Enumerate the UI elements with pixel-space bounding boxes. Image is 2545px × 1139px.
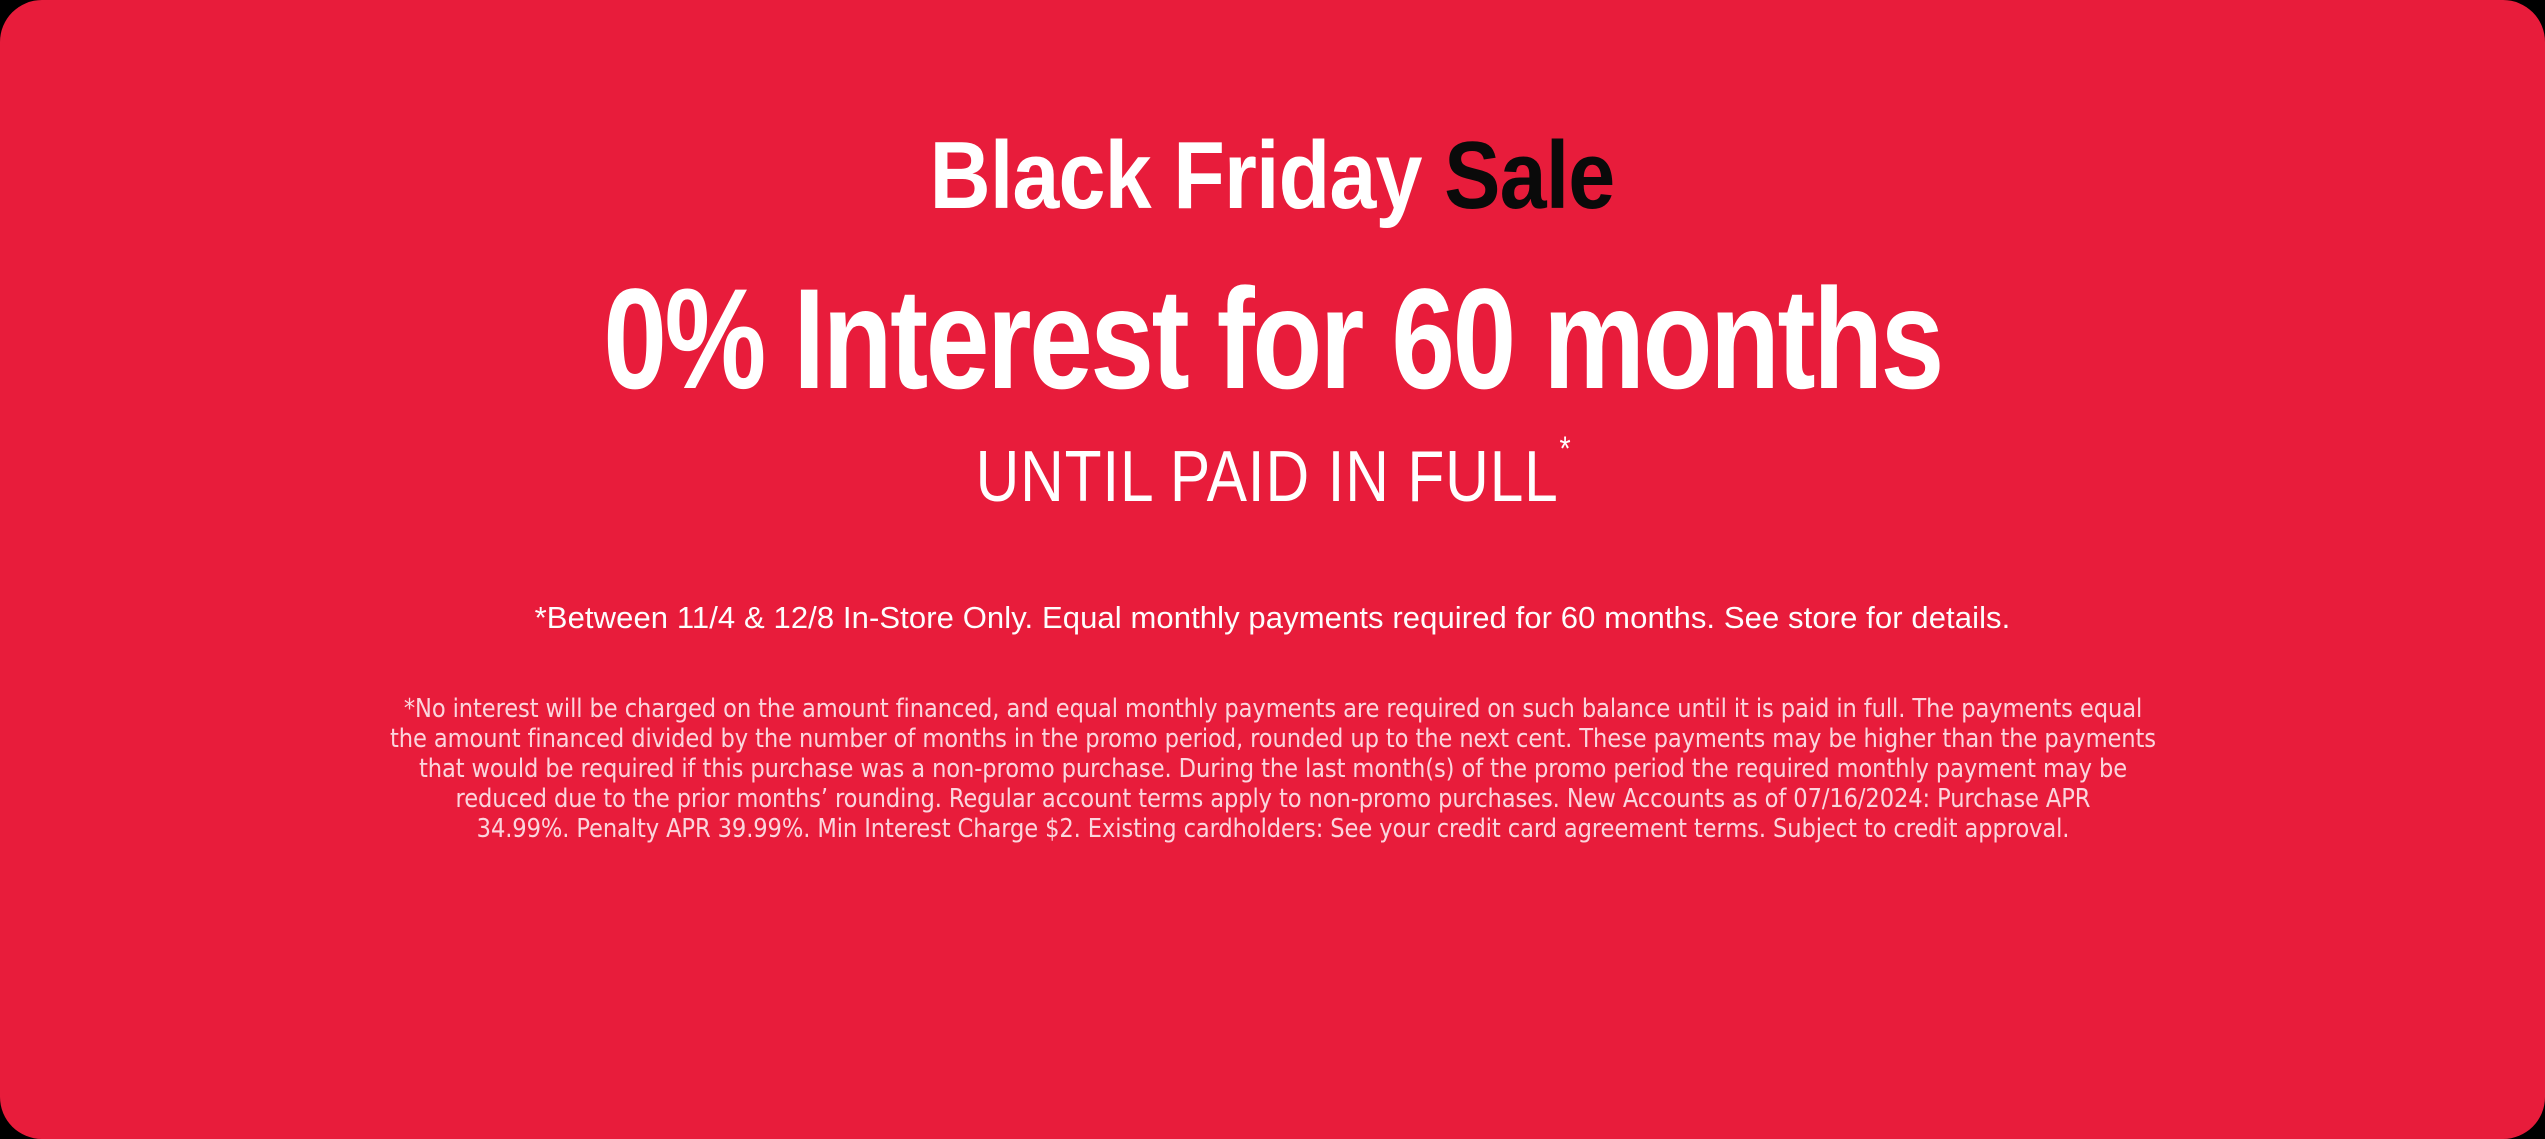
headline-terms-text: UNTIL PAID IN FULL: [975, 437, 1558, 517]
headline-black-friday-text: Black Friday: [930, 122, 1422, 229]
disclaimer-text: *Between 11/4 & 12/8 In-Store Only. Equa…: [535, 599, 2011, 636]
asterisk-footnote-marker: *: [1559, 430, 1570, 468]
headline-sale-text: Sale: [1445, 122, 1615, 229]
fineprint-line: 34.99%. Penalty APR 39.99%. Min Interest…: [81, 814, 2465, 844]
fineprint-line: the amount financed divided by the numbe…: [81, 724, 2465, 754]
headline-until-paid-in-full: UNTIL PAID IN FULL*: [975, 441, 1569, 513]
headline-offer-text: 0% Interest for 60 months: [603, 268, 1942, 411]
promotional-banner: Black Friday Sale 0% Interest for 60 mon…: [0, 0, 2545, 1139]
fineprint-line: that would be required if this purchase …: [81, 754, 2465, 784]
fineprint-block: *No interest will be charged on the amou…: [63, 694, 2483, 844]
fineprint-line: *No interest will be charged on the amou…: [81, 694, 2465, 724]
fineprint-line: reduced due to the prior months’ roundin…: [81, 784, 2465, 814]
headline-black-friday-sale: Black Friday Sale: [930, 128, 1615, 224]
